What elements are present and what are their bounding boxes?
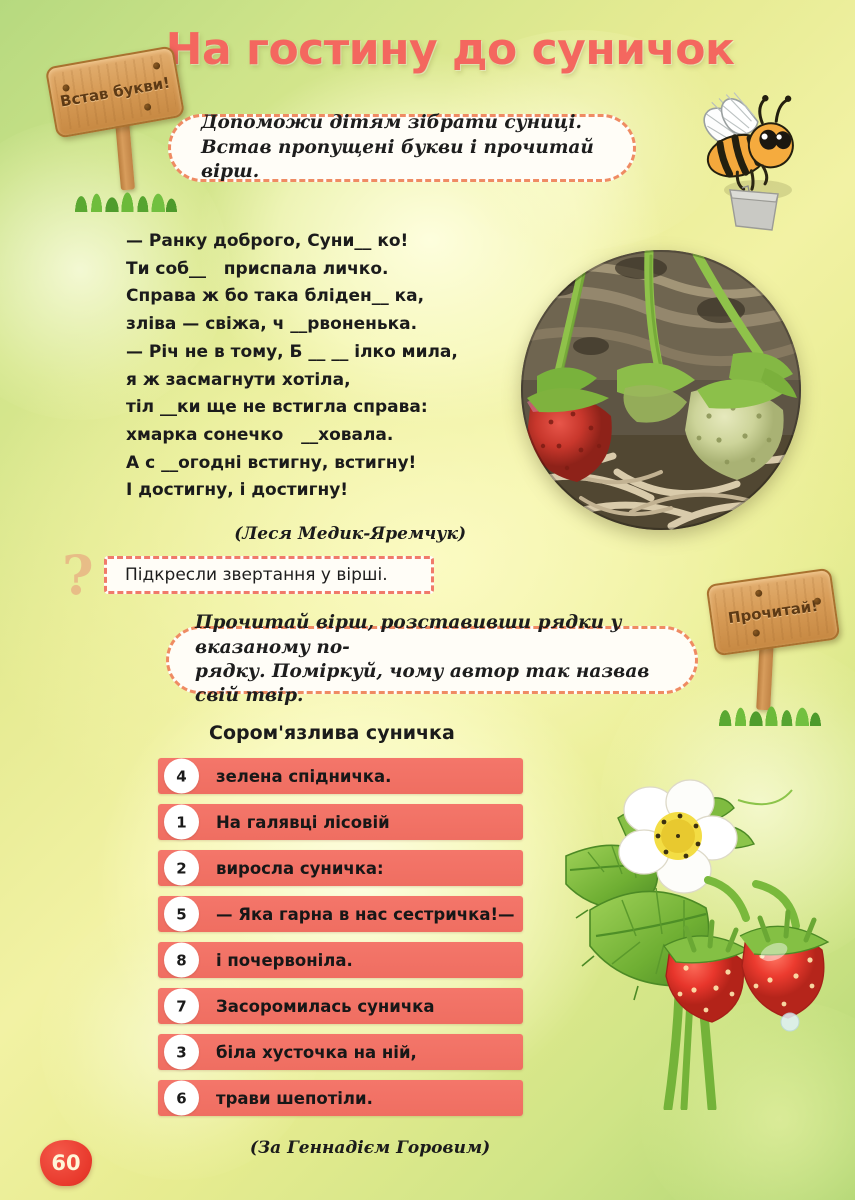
- ordering-row[interactable]: 7 Засоромилась суничка: [158, 988, 523, 1024]
- ordering-line-text: і почервоніла.: [216, 951, 353, 970]
- ordering-line-text: На галявці лісовій: [216, 813, 390, 832]
- poem-line: — Річ не в тому, Б __ __ ілко мила,: [126, 339, 526, 367]
- page-number-badge: 60: [40, 1140, 92, 1186]
- screw-icon: [813, 597, 821, 605]
- poem-line: Ти соб__ приспала личко.: [126, 256, 526, 284]
- ordering-row[interactable]: 4 зелена спідничка.: [158, 758, 523, 794]
- poem-line: — Ранку доброго, Суни__ ко!: [126, 228, 526, 256]
- order-number[interactable]: 2: [164, 851, 199, 886]
- poem-author: (Леся Медик-Яремчук): [126, 524, 466, 544]
- ordering-line-text: трави шепотіли.: [216, 1089, 373, 1108]
- poem-line: хмарка сонечко __ховала.: [126, 422, 526, 450]
- screw-icon: [144, 103, 152, 111]
- instruction-bubble-1: Допоможи дітям зібрати суниці. Встав про…: [168, 114, 636, 182]
- bee-icon: [692, 78, 842, 238]
- poem-with-blanks: — Ранку доброго, Суни__ ко! Ти соб__ при…: [126, 228, 526, 505]
- ordering-row[interactable]: 5 — Яка гарна в нас сестричка!—: [158, 896, 523, 932]
- order-number[interactable]: 7: [164, 989, 199, 1024]
- ordering-line-text: зелена спідничка.: [216, 767, 391, 786]
- order-number[interactable]: 4: [164, 759, 199, 794]
- instruction-line: Встав пропущені букви і прочитай вірш.: [201, 136, 603, 185]
- ordering-author: (За Геннадієм Горовим): [200, 1138, 540, 1158]
- order-number[interactable]: 6: [164, 1081, 199, 1116]
- ordering-line-text: Засоромилась суничка: [216, 997, 435, 1016]
- ordering-line-text: біла хусточка на ній,: [216, 1043, 417, 1062]
- order-number[interactable]: 8: [164, 943, 199, 978]
- order-number[interactable]: 5: [164, 897, 199, 932]
- order-number[interactable]: 3: [164, 1035, 199, 1070]
- ordering-line-text: — Яка гарна в нас сестричка!—: [216, 905, 515, 924]
- ordering-row[interactable]: 8 і почервоніла.: [158, 942, 523, 978]
- instruction-line: Прочитай вірш, розставивши рядки у вказа…: [195, 611, 669, 660]
- screw-icon: [153, 62, 161, 70]
- instruction-line: Підкресли звертання у вірші.: [125, 564, 388, 586]
- order-number[interactable]: 1: [164, 805, 199, 840]
- sign-read: Прочитай!: [706, 570, 855, 735]
- instruction-bubble-2: Підкресли звертання у вірші.: [104, 556, 434, 594]
- sign-label: Встав букви!: [59, 73, 172, 110]
- instruction-line: рядку. Поміркуй, чому автор так назвав с…: [195, 660, 669, 709]
- poem-line: зліва — свіжа, ч __рвоненька.: [126, 311, 526, 339]
- sign-board: Встав букви!: [45, 45, 186, 138]
- ordering-line-text: виросла суничка:: [216, 859, 384, 878]
- ordering-row[interactable]: 3 біла хусточка на ній,: [158, 1034, 523, 1070]
- poem-line: Справа ж бо така бліден__ ка,: [126, 283, 526, 311]
- strawberry-photo: [521, 250, 801, 530]
- poem-line: І достигну, і достигну!: [126, 477, 526, 505]
- sign-board: Прочитай!: [706, 568, 841, 657]
- ordering-title: Сором'язлива суничка: [209, 722, 455, 744]
- ordering-row[interactable]: 1 На галявці лісовій: [158, 804, 523, 840]
- screw-icon: [755, 589, 763, 597]
- poem-line: А с __огодні встигну, встигну!: [126, 450, 526, 478]
- question-mark-icon: ?: [62, 548, 94, 602]
- instruction-line: Допоможи дітям зібрати суниці.: [201, 111, 603, 135]
- grass-icon: [68, 178, 178, 212]
- workbook-page: На гостину до суничок Встав букви! Прочи…: [0, 0, 855, 1200]
- poem-line: я ж засмагнути хотіла,: [126, 367, 526, 395]
- strawberry-plant-illustration: [560, 760, 850, 1110]
- grass-icon: [712, 692, 822, 726]
- ordering-row[interactable]: 6 трави шепотіли.: [158, 1080, 523, 1116]
- poem-line: тіл __ки ще не встигла справа:: [126, 394, 526, 422]
- sign-label: Прочитай!: [727, 597, 819, 627]
- page-title: На гостину до суничок: [150, 24, 750, 75]
- instruction-bubble-3: Прочитай вірш, розставивши рядки у вказа…: [166, 626, 698, 694]
- ordering-row[interactable]: 2 виросла суничка:: [158, 850, 523, 886]
- ordering-list: 4 зелена спідничка. 1 На галявці лісовій…: [158, 758, 523, 1126]
- screw-icon: [752, 629, 760, 637]
